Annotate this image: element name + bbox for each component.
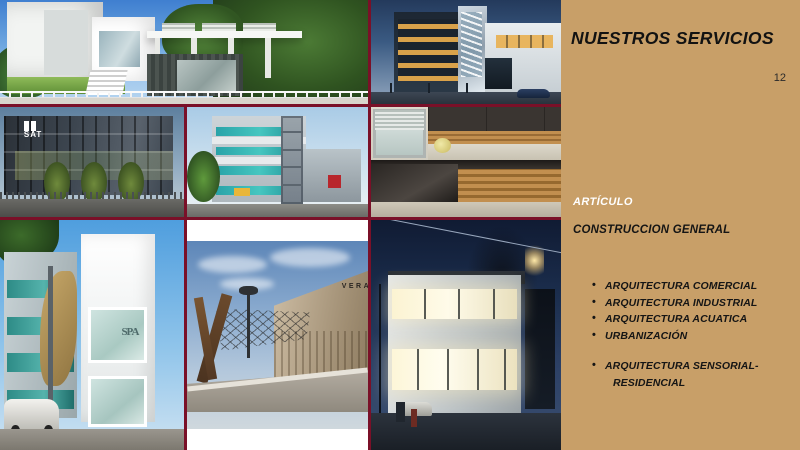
collage-image-r3a: SPA	[0, 220, 184, 450]
presentation-slide: SAT	[0, 0, 800, 450]
list-item-label: ARQUITECTURA ACUATICA	[605, 313, 747, 325]
section-subtitle: CONSTRUCCION GENERAL	[573, 224, 730, 236]
list-item: ARQUITECTURA ACUATICA	[591, 311, 796, 328]
commercial-dusk-render-art	[371, 0, 561, 104]
list-item: ARQUITECTURA SENSORIAL- RESIDENCIAL	[591, 358, 796, 391]
villa-render-art	[0, 0, 368, 104]
veracruz-sign-text: VERACRUZ	[342, 282, 352, 292]
section-kicker: ARTÍCULO	[573, 196, 633, 208]
commercial-block-photo-art	[187, 107, 368, 217]
collage-image-r2a: SAT	[0, 107, 184, 217]
collage-image-r3c	[371, 220, 561, 450]
spa-sign-text: SPA	[121, 326, 138, 338]
page-number: 12	[774, 72, 786, 84]
list-item-label: URBANIZACIÓN	[605, 330, 687, 342]
kitchen-interior-art	[371, 107, 561, 217]
list-item-label-line2: RESIDENCIAL	[605, 375, 796, 392]
list-item-label: ARQUITECTURA COMERCIAL	[605, 280, 757, 292]
sat-sign-text: SAT	[24, 130, 42, 139]
sat-building-photo-art: SAT	[0, 107, 184, 217]
list-item-label: ARQUITECTURA SENSORIAL-	[605, 360, 759, 372]
image-collage: SAT	[0, 0, 561, 450]
list-item-label: ARQUITECTURA INDUSTRIAL	[605, 297, 757, 309]
collage-image-r3b: VERACRUZ	[187, 220, 368, 450]
night-corner-building-art	[371, 220, 561, 450]
text-panel: NUESTROS SERVICIOS 12 ARTÍCULO CONSTRUCC…	[561, 0, 800, 450]
collage-image-r1b	[371, 0, 561, 104]
list-item: ARQUITECTURA INDUSTRIAL	[591, 295, 796, 312]
collage-image-r2c	[371, 107, 561, 217]
collage-image-r1a	[0, 0, 368, 104]
services-list: ARQUITECTURA COMERCIAL ARQUITECTURA INDU…	[591, 278, 796, 391]
list-item: URBANIZACIÓN	[591, 328, 796, 345]
collage-image-r2b	[187, 107, 368, 217]
spa-building-photo-art: SPA	[0, 220, 184, 450]
page-title: NUESTROS SERVICIOS	[571, 28, 797, 48]
veracruz-monument-art: VERACRUZ	[187, 220, 368, 450]
list-item: ARQUITECTURA COMERCIAL	[591, 278, 796, 295]
